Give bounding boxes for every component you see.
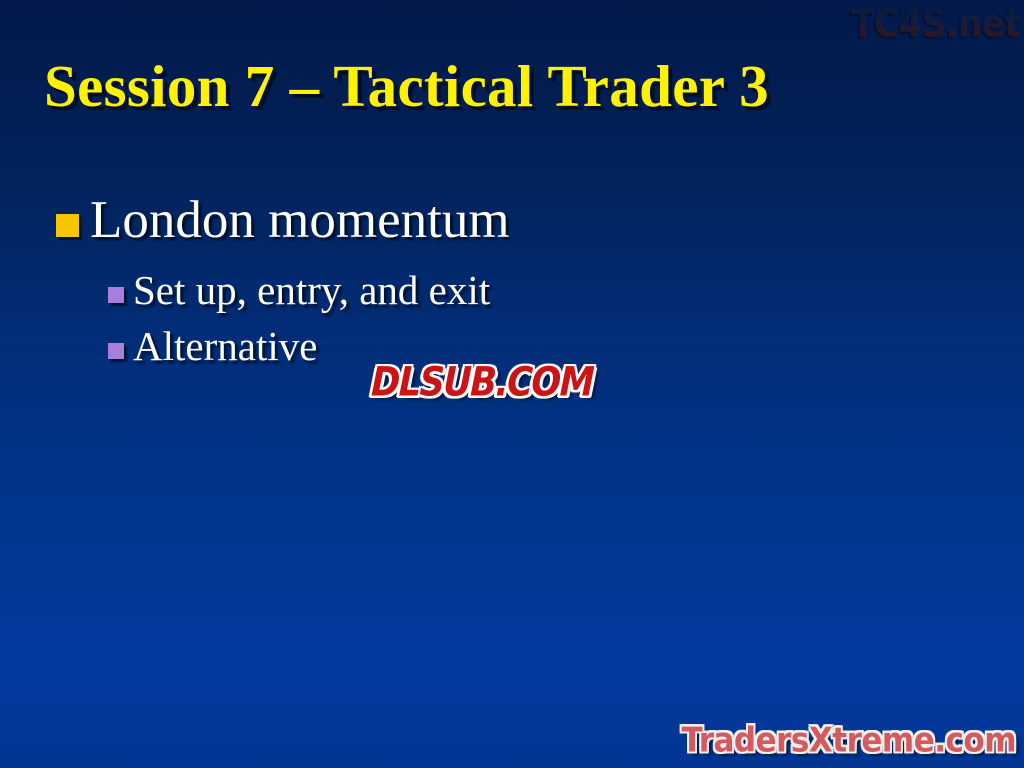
slide-title: Session 7 – Tactical Trader 3 <box>44 56 994 118</box>
bullet-text-alternative: Alternative <box>133 324 317 368</box>
bullet-item-level1: London momentum <box>56 192 976 248</box>
bullet-text-set-up-entry-exit: Set up, entry, and exit <box>133 268 490 312</box>
presentation-slide: Session 7 – Tactical Trader 3 London mom… <box>0 0 1024 768</box>
gold-square-bullet-icon <box>56 214 79 237</box>
slide-body-content: London momentum Set up, entry, and exit … <box>56 192 976 381</box>
bullet-item-level2: Set up, entry, and exit <box>108 268 976 312</box>
lavender-square-bullet-icon <box>108 343 124 359</box>
bullet-text-london-momentum: London momentum <box>90 192 510 248</box>
bullet-item-level2: Alternative <box>108 324 976 368</box>
lavender-square-bullet-icon <box>108 287 124 303</box>
